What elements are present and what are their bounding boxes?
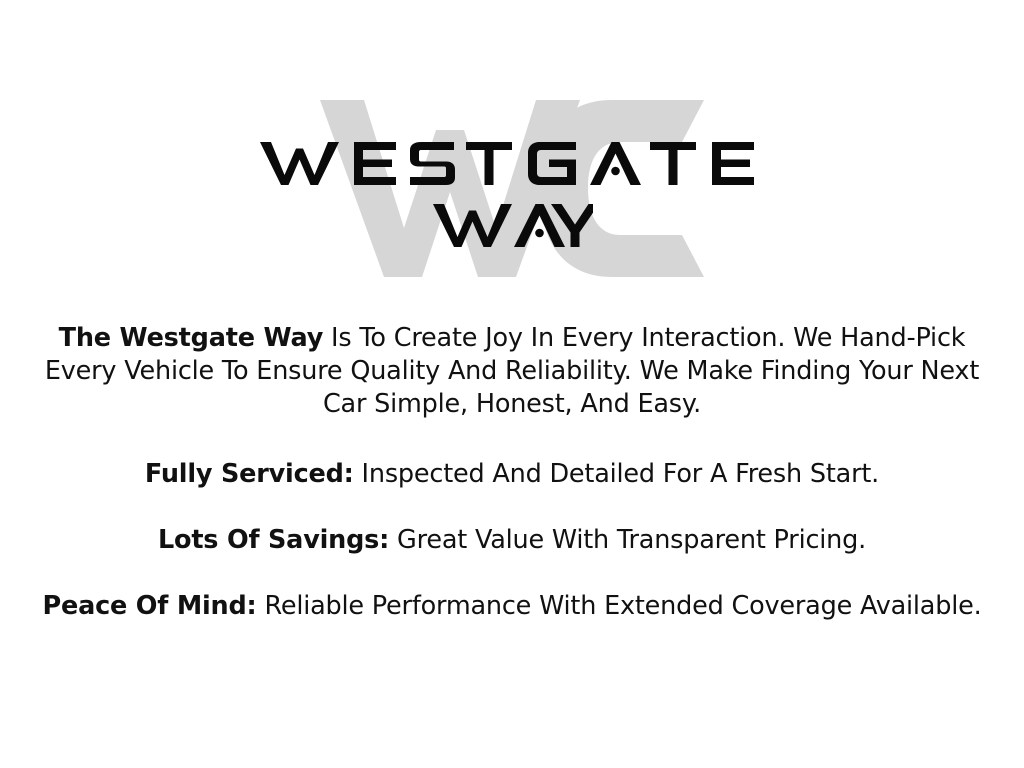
logo-line-way: [0, 186, 1024, 248]
point-label: Lots Of Savings:: [158, 525, 389, 555]
point-text: Inspected And Detailed For A Fresh Start…: [354, 459, 879, 489]
logo-block: [0, 96, 1024, 296]
logo-westgate-text: [258, 140, 766, 186]
logo-line-westgate: [0, 96, 1024, 186]
body-copy: The Westgate Way Is To Create Joy In Eve…: [0, 322, 1024, 623]
point-lots-of-savings: Lots Of Savings: Great Value With Transp…: [42, 524, 982, 557]
point-label: Fully Serviced:: [145, 459, 354, 489]
point-text: Reliable Performance With Extended Cover…: [257, 591, 982, 621]
spacer: [0, 421, 1024, 458]
logo-way-text: [431, 202, 593, 248]
point-fully-serviced: Fully Serviced: Inspected And Detailed F…: [42, 458, 982, 491]
point-text: Great Value With Transparent Pricing.: [389, 525, 866, 555]
point-label: Peace Of Mind:: [42, 591, 256, 621]
intro-paragraph: The Westgate Way Is To Create Joy In Eve…: [35, 322, 990, 421]
spacer: [0, 557, 1024, 590]
intro-lead: The Westgate Way: [59, 323, 324, 353]
spacer: [0, 491, 1024, 524]
point-peace-of-mind: Peace Of Mind: Reliable Performance With…: [20, 590, 1005, 623]
promo-page: The Westgate Way Is To Create Joy In Eve…: [0, 0, 1024, 768]
logo-wordmark: [0, 96, 1024, 248]
